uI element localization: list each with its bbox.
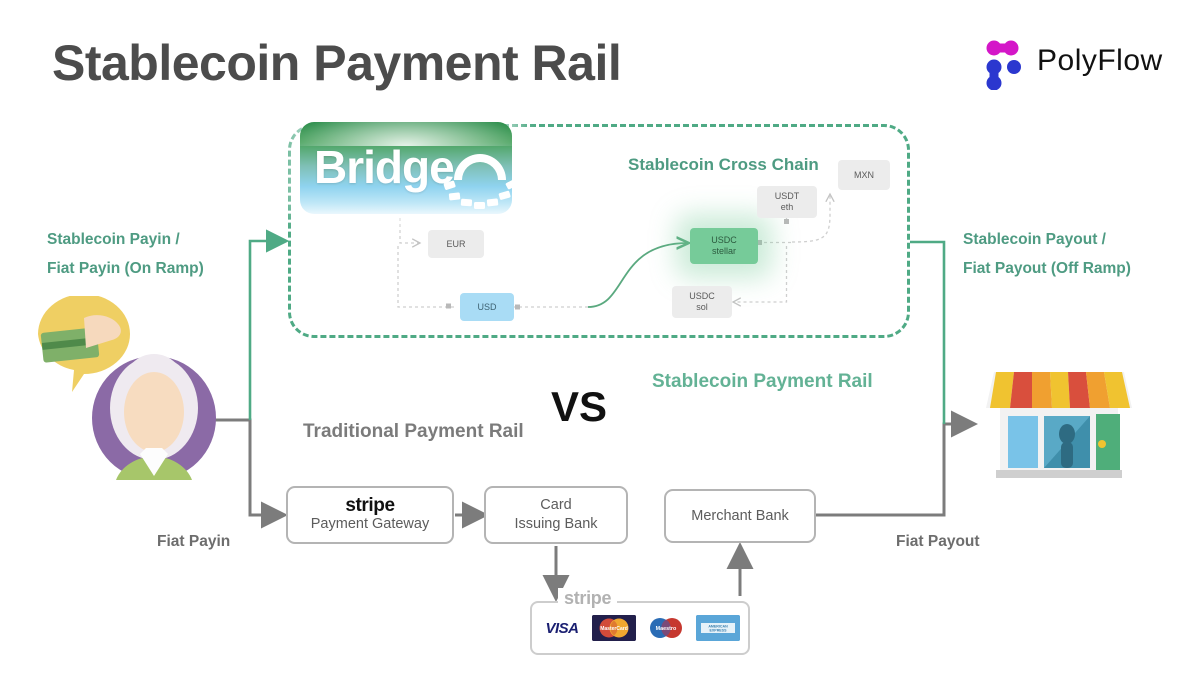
rail-box-card-issuing-bank[interactable]: Card Issuing Bank bbox=[484, 486, 628, 544]
maestro-logo: Maestro bbox=[644, 615, 688, 641]
vs-label: VS bbox=[551, 383, 607, 431]
visa-logo: VISA bbox=[540, 615, 584, 641]
svg-text:EXPRESS: EXPRESS bbox=[710, 629, 728, 633]
brand-name: PolyFlow bbox=[1037, 44, 1163, 78]
amex-logo: AMERICAN EXPRESS bbox=[696, 615, 740, 641]
cross-chain-title: Stablecoin Cross Chain bbox=[628, 155, 819, 175]
fiat-payin-label: Fiat Payin bbox=[157, 533, 230, 551]
svg-text:MasterCard: MasterCard bbox=[600, 626, 628, 632]
rail-box-sublabel: Payment Gateway bbox=[311, 515, 429, 534]
storefront-icon bbox=[984, 358, 1134, 490]
rail-box-label: Card bbox=[540, 496, 571, 515]
traditional-rail-label: Traditional Payment Rail bbox=[303, 421, 524, 443]
payin-line2: Fiat Payin (On Ramp) bbox=[47, 254, 204, 283]
node-sublabel: sol bbox=[696, 302, 708, 313]
payer-avatar-icon bbox=[28, 296, 224, 486]
node-sublabel: eth bbox=[781, 202, 794, 213]
node-sublabel: stellar bbox=[712, 246, 736, 257]
bridge-wordmark: Bridge bbox=[314, 140, 454, 194]
chain-node-usdc-stellar[interactable]: USDC stellar bbox=[690, 228, 758, 264]
mastercard-logo: MasterCard bbox=[592, 615, 636, 641]
rail-box-merchant-bank[interactable]: Merchant Bank bbox=[664, 489, 816, 543]
payout-label: Stablecoin Payout / Fiat Payout (Off Ram… bbox=[963, 225, 1131, 283]
stripe-wordmark: stripe bbox=[345, 496, 394, 515]
stablecoin-rail-label: Stablecoin Payment Rail bbox=[652, 371, 873, 393]
payout-line1: Stablecoin Payout / bbox=[963, 225, 1131, 254]
node-label: EUR bbox=[446, 239, 465, 250]
payin-line1: Stablecoin Payin / bbox=[47, 225, 204, 254]
payout-line2: Fiat Payout (Off Ramp) bbox=[963, 254, 1131, 283]
node-label: MXN bbox=[854, 170, 874, 181]
brand-logo: PolyFlow bbox=[985, 38, 1165, 92]
node-label: USDC bbox=[711, 235, 737, 246]
bridge-logo: Bridge bbox=[300, 122, 512, 214]
payin-label: Stablecoin Payin / Fiat Payin (On Ramp) bbox=[47, 225, 204, 283]
node-label: USDT bbox=[775, 191, 800, 202]
chain-node-eur[interactable]: EUR bbox=[428, 230, 484, 258]
chain-node-usd[interactable]: USD bbox=[460, 293, 514, 321]
bridge-sunburst-icon bbox=[440, 136, 512, 214]
chain-node-mxn[interactable]: MXN bbox=[838, 160, 890, 190]
rail-box-sublabel: Issuing Bank bbox=[514, 515, 597, 534]
chain-node-usdt-eth[interactable]: USDT eth bbox=[757, 186, 817, 218]
node-label: USD bbox=[477, 302, 496, 313]
node-label: USDC bbox=[689, 291, 715, 302]
chain-node-usdc-sol[interactable]: USDC sol bbox=[672, 286, 732, 318]
svg-text:Maestro: Maestro bbox=[656, 626, 677, 632]
rail-box-label: Merchant Bank bbox=[691, 507, 789, 526]
card-brands-panel: VISA MasterCard Maestro AMERICAN EXPRESS bbox=[530, 601, 750, 655]
card-panel-title: stripe bbox=[558, 588, 617, 609]
rail-box-payment-gateway[interactable]: stripe Payment Gateway bbox=[286, 486, 454, 544]
polyflow-nodes-icon bbox=[985, 40, 1029, 90]
page-title: Stablecoin Payment Rail bbox=[52, 34, 621, 92]
fiat-payout-label: Fiat Payout bbox=[896, 533, 980, 551]
